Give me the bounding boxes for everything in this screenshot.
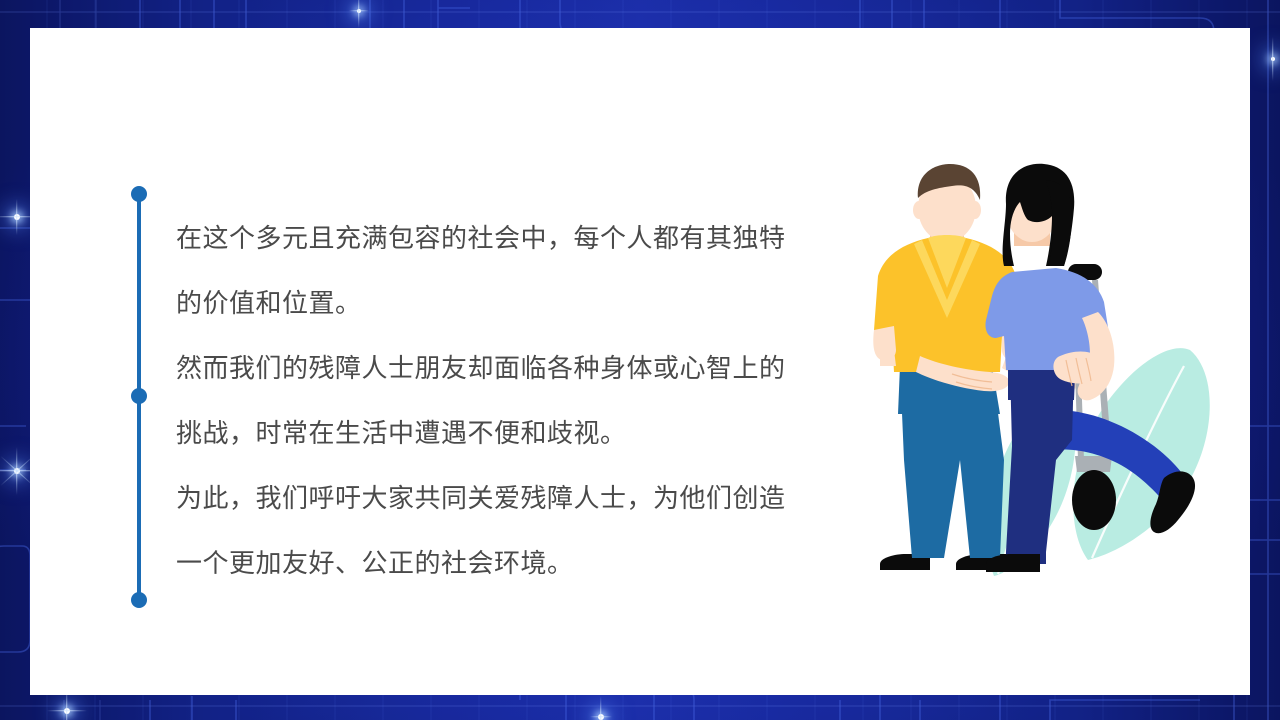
body-line-4: 挑战，时常在生活中遭遇不便和歧视。 — [176, 401, 876, 466]
timeline-dot-middle — [131, 388, 147, 404]
body-line-5: 为此，我们呼吁大家共同关爱残障人士，为他们创造 — [176, 466, 876, 531]
body-line-3: 然而我们的残障人士朋友却面临各种身体或心智上的 — [176, 336, 876, 401]
body-line-6: 一个更加友好、公正的社会环境。 — [176, 531, 876, 596]
body-line-1: 在这个多元且充满包容的社会中，每个人都有其独特 — [176, 206, 876, 271]
timeline-dot-top — [131, 186, 147, 202]
body-line-2: 的价值和位置。 — [176, 271, 876, 336]
body-text-block: 在这个多元且充满包容的社会中，每个人都有其独特 的价值和位置。 然而我们的残障人… — [176, 206, 876, 596]
slide-canvas: 在这个多元且充满包容的社会中，每个人都有其独特 的价值和位置。 然而我们的残障人… — [0, 0, 1280, 720]
timeline-rail — [131, 186, 147, 608]
timeline-dot-bottom — [131, 592, 147, 608]
illustration-two-people-with-crutch — [860, 160, 1220, 600]
